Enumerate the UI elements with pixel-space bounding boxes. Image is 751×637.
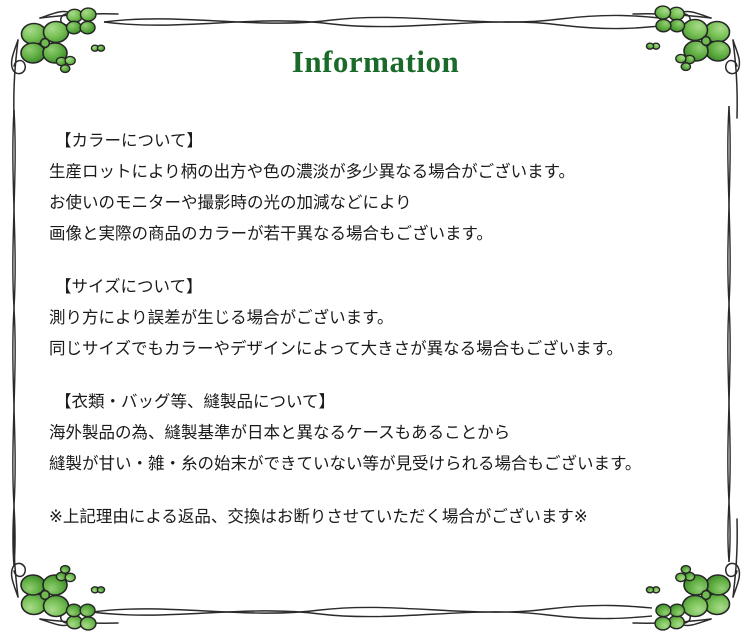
section-size: 【サイズについて】 測り方により誤差が生じる場合がございます。 同じサイズでもカ… [49,272,709,365]
section-line: 測り方により誤差が生じる場合がございます。 [49,303,709,334]
notice-sections: 【カラーについて】 生産ロットにより柄の出方や色の濃淡が多少異なる場合がございま… [49,126,709,533]
page-title: Information [0,44,751,80]
section-line: 同じサイズでもカラーやデザインによって大きさが異なる場合もございます。 [49,334,709,365]
notice-content: Information 【カラーについて】 生産ロットにより柄の出方や色の濃淡が… [0,0,751,637]
section-footnote: ※上記理由による返品、交換はお断りさせていただく場合がございます※ [49,502,709,533]
section-heading: 【衣類・バッグ等、縫製品について】 [49,387,709,418]
information-notice-page: Information 【カラーについて】 生産ロットにより柄の出方や色の濃淡が… [0,0,751,637]
section-line: 海外製品の為、縫製基準が日本と異なるケースもあることから [49,418,709,449]
section-line: 生産ロットにより柄の出方や色の濃淡が多少異なる場合がございます。 [49,157,709,188]
section-heading: 【カラーについて】 [49,126,709,157]
section-line: 縫製が甘い・雑・糸の始末ができていない等が見受けられる場合もございます。 [49,449,709,480]
section-line: お使いのモニターや撮影時の光の加減などにより [49,188,709,219]
section-line: 画像と実際の商品のカラーが若干異なる場合もございます。 [49,219,709,250]
section-heading: 【サイズについて】 [49,272,709,303]
section-sewn-products: 【衣類・バッグ等、縫製品について】 海外製品の為、縫製基準が日本と異なるケースも… [49,387,709,480]
footnote-text: ※上記理由による返品、交換はお断りさせていただく場合がございます※ [49,502,709,533]
section-color: 【カラーについて】 生産ロットにより柄の出方や色の濃淡が多少異なる場合がございま… [49,126,709,250]
